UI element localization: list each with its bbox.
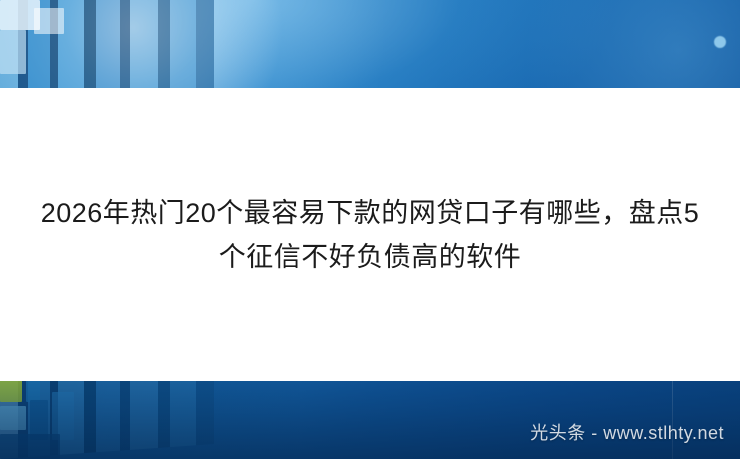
- facade-pane: [0, 30, 26, 74]
- page-title: 2026年热门20个最容易下款的网贷口子有哪些，盘点5个征信不好负债高的软件: [40, 191, 700, 279]
- headline-container: 2026年热门20个最容易下款的网贷口子有哪些，盘点5个征信不好负债高的软件: [0, 88, 740, 381]
- facade-pane: [34, 8, 64, 34]
- image-canvas: 2026年热门20个最容易下款的网贷口子有哪些，盘点5个征信不好负债高的软件 光…: [0, 0, 740, 459]
- watermark: 光头条 - www.stlhty.net: [530, 419, 724, 445]
- light-dot-icon: [714, 36, 726, 48]
